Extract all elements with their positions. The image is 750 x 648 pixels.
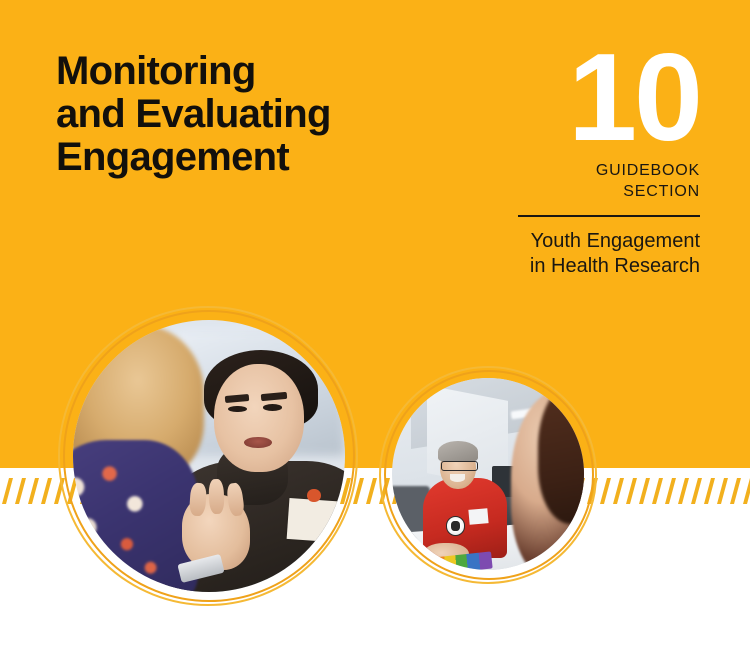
title-line-3: Engagement	[56, 136, 476, 179]
photo-right-name-card	[468, 508, 488, 525]
page-title: Monitoring and Evaluating Engagement	[56, 50, 476, 179]
photo-right-man-hair	[438, 441, 478, 462]
section-subtitle-line-2: in Health Research	[470, 254, 700, 279]
section-kicker-line-2: SECTION	[470, 181, 700, 202]
title-line-2: and Evaluating	[56, 93, 476, 136]
section-subtitle-line-1: Youth Engagement	[470, 229, 700, 254]
photo-left	[73, 320, 345, 592]
photo-right-button-badge	[446, 516, 465, 535]
section-number: 10	[470, 42, 700, 154]
photo-left-scene	[73, 320, 345, 592]
photo-right-scene	[392, 378, 584, 570]
photo-left-speaker-face	[214, 364, 304, 473]
photo-right	[392, 378, 584, 570]
photo-left-eye-right	[263, 404, 282, 411]
photo-left-name-badge	[287, 497, 345, 542]
photo-left-mouth	[244, 437, 271, 448]
photo-left-finger-2	[208, 479, 224, 515]
photo-left-badge-dot	[307, 489, 321, 503]
photo-right-glasses	[441, 461, 478, 472]
section-marker: 10 GUIDEBOOK SECTION Youth Engagement in…	[470, 42, 700, 279]
section-divider-rule	[518, 215, 700, 217]
title-line-1: Monitoring	[56, 50, 476, 93]
cover-page: Monitoring and Evaluating Engagement 10 …	[0, 0, 750, 648]
photo-right-smile	[450, 474, 465, 482]
